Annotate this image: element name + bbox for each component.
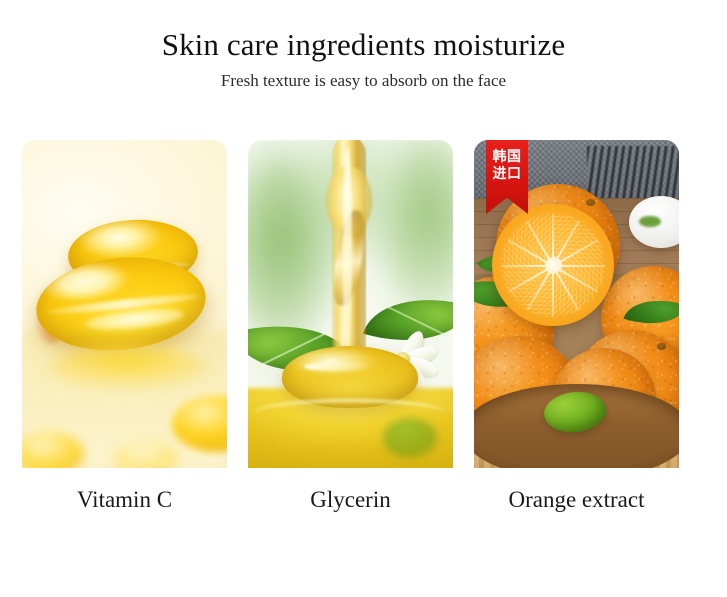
ingredient-image-orange-extract: 韩国 进口 <box>474 140 679 468</box>
page-title: Skin care ingredients moisturize <box>0 26 727 64</box>
caption-orange-extract: Orange extract <box>474 484 679 516</box>
orange-segment-divider <box>552 266 554 317</box>
ingredient-captions: Vitamin C Glycerin Orange extract <box>22 484 679 524</box>
badge-line-2: 进口 <box>493 166 522 183</box>
halved-orange <box>492 204 614 326</box>
oil-stream-highlight <box>343 148 352 358</box>
ingredient-image-vitamin-c <box>22 140 227 468</box>
page-subtitle: Fresh texture is easy to absorb on the f… <box>0 69 727 93</box>
caption-vitamin-c: Vitamin C <box>22 484 227 516</box>
caption-glycerin: Glycerin <box>248 484 453 516</box>
oil-pool-ring <box>254 399 447 428</box>
ingredient-panels: 韩国 进口 <box>22 140 679 468</box>
ingredient-image-glycerin <box>248 140 453 468</box>
promo-page: Skin care ingredients moisturize Fresh t… <box>0 0 727 597</box>
page-heading: Skin care ingredients moisturize Fresh t… <box>0 26 727 93</box>
orange-stem-nub <box>586 199 595 206</box>
capsule-blurred-center <box>114 440 178 468</box>
badge-line-1: 韩国 <box>493 149 522 166</box>
capsule-reflection <box>48 345 206 389</box>
orange-core <box>545 257 562 274</box>
